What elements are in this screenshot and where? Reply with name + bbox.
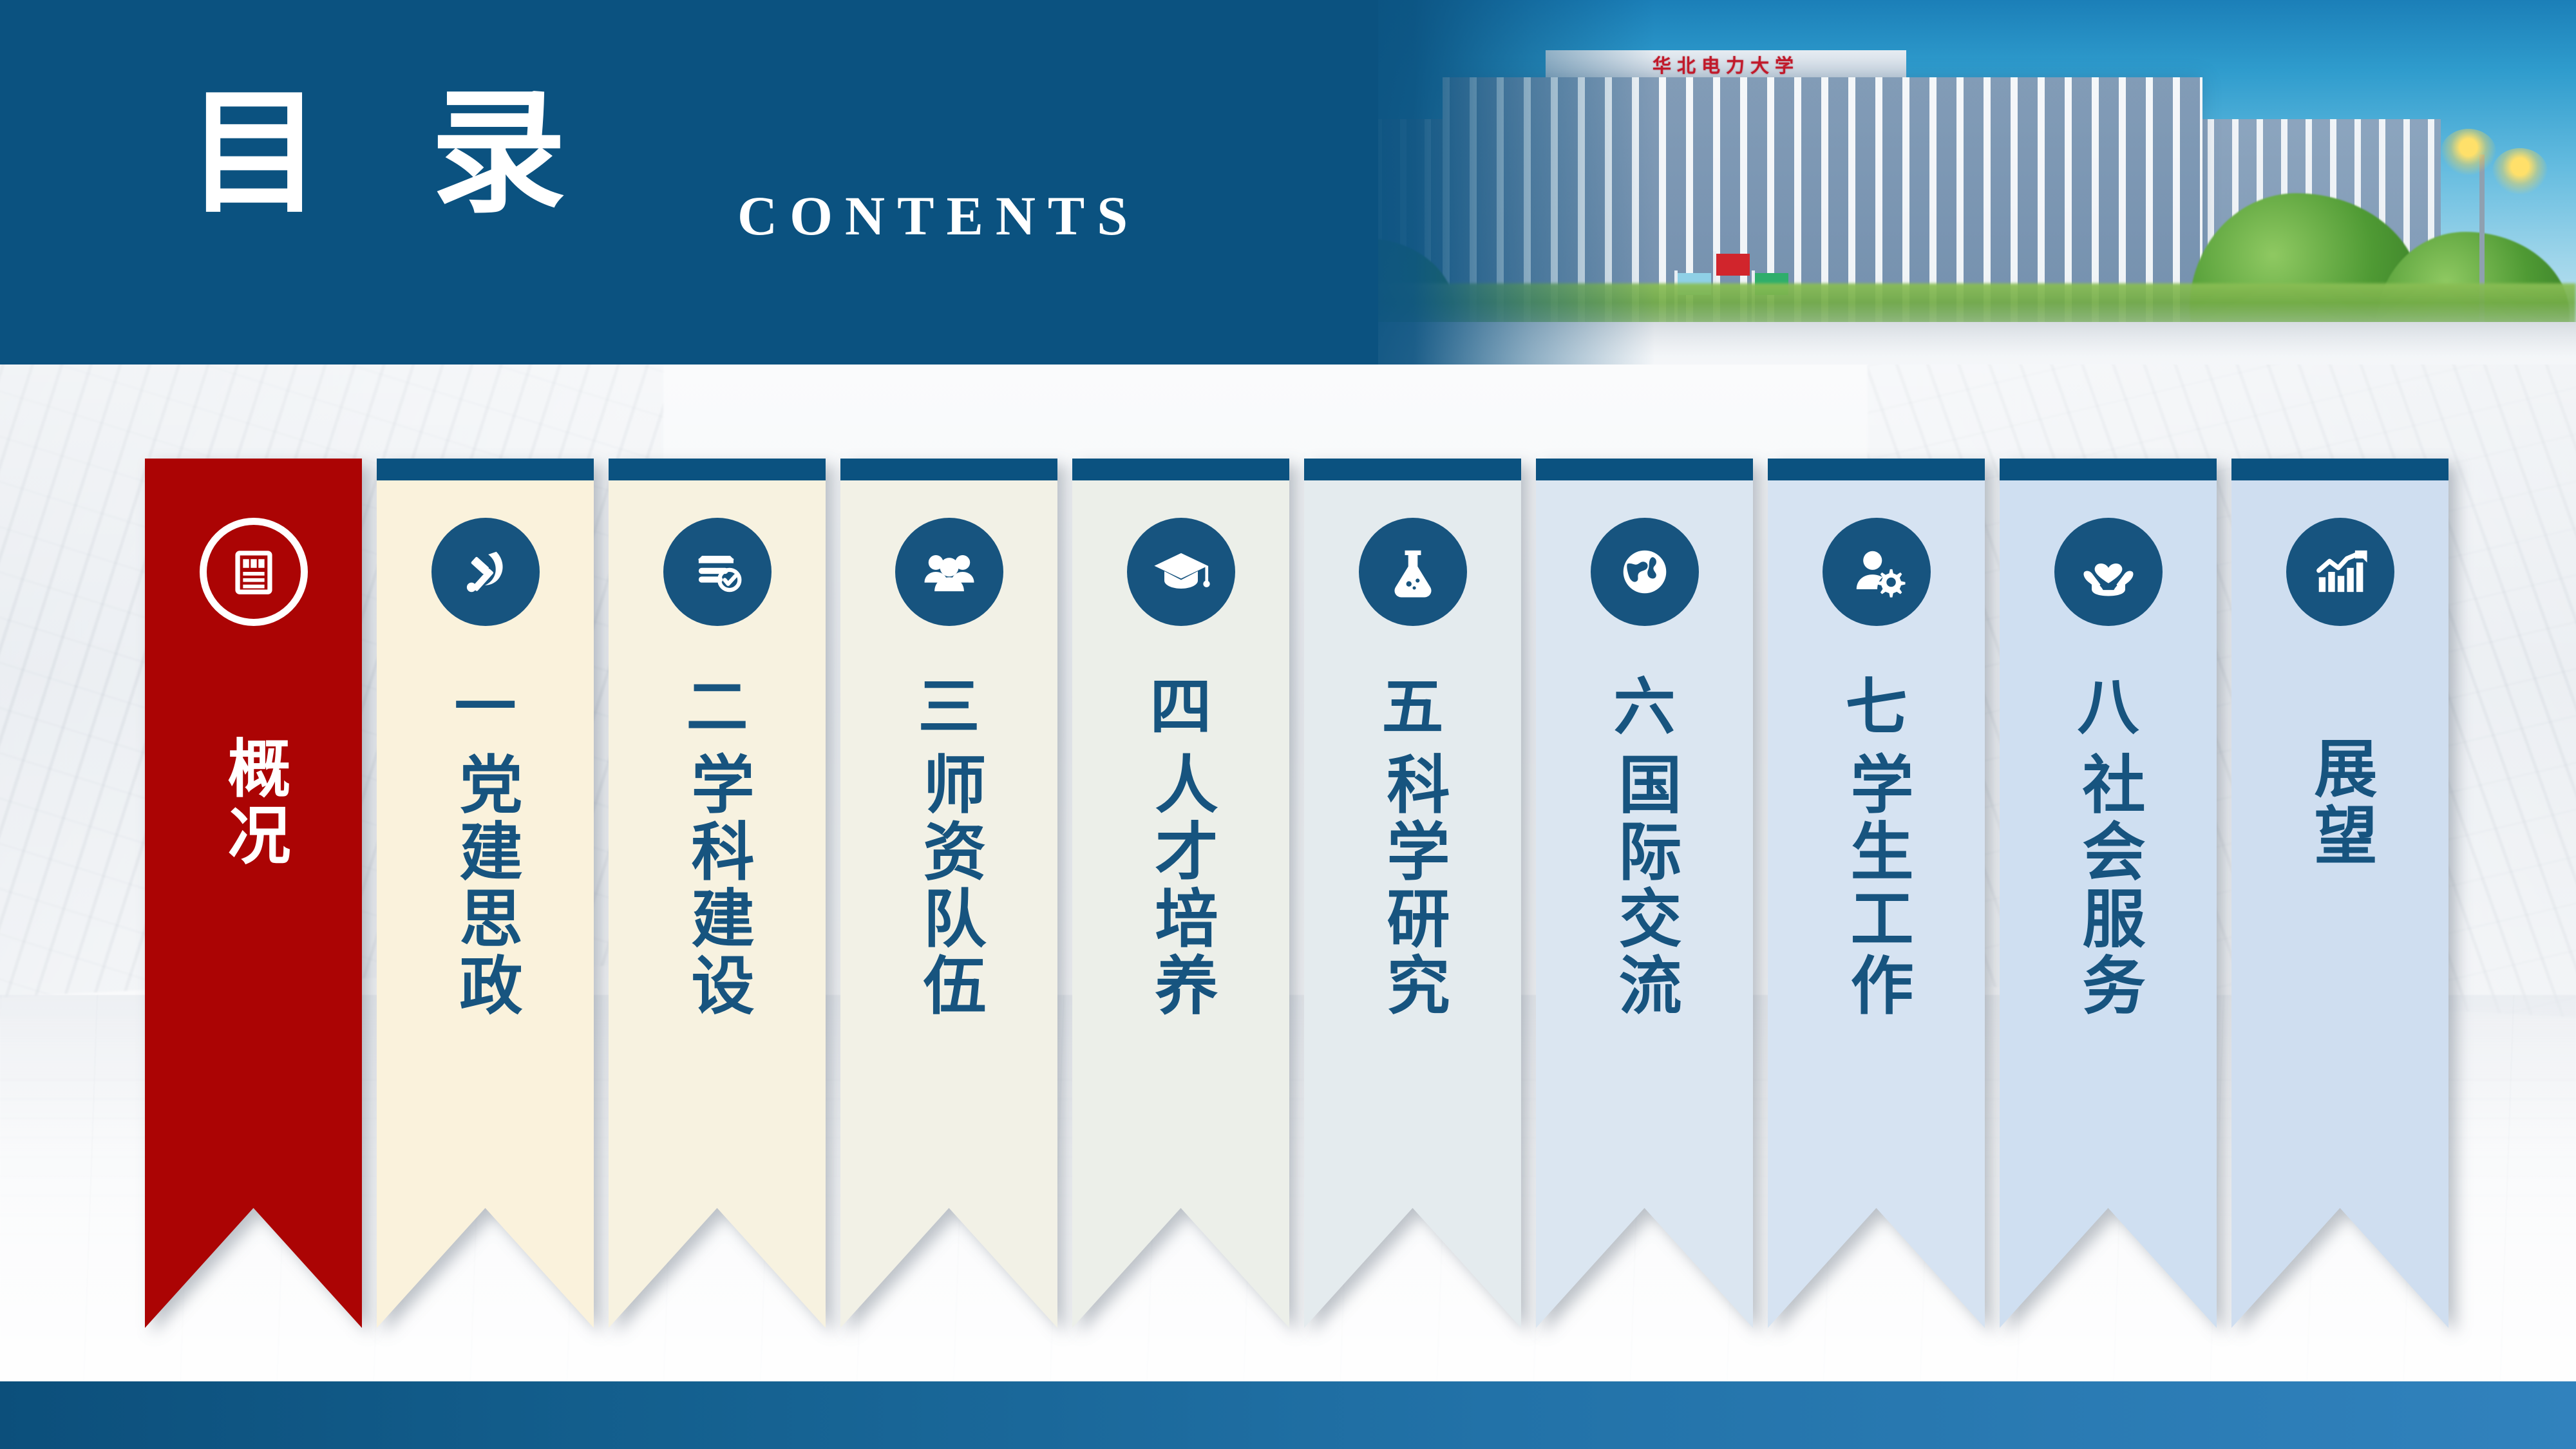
icon-circle bbox=[1591, 518, 1699, 626]
people-group-icon bbox=[916, 538, 983, 605]
icon-circle bbox=[895, 518, 1003, 626]
ribbon-icon-badge bbox=[1359, 518, 1467, 626]
ribbon-icon-badge bbox=[1127, 518, 1235, 626]
ribbon-item-5[interactable]: 四人才培养 bbox=[1072, 459, 1289, 1328]
ribbon-item-1[interactable]: 概况 bbox=[145, 459, 362, 1328]
flask-icon bbox=[1379, 538, 1446, 605]
ribbon-icon-badge bbox=[2054, 518, 2163, 626]
icon-circle bbox=[2054, 518, 2163, 626]
icon-circle bbox=[1359, 518, 1467, 626]
ribbon-icon-badge bbox=[1591, 518, 1699, 626]
newspaper-icon bbox=[220, 538, 287, 605]
ribbon-index-numeral: 七 bbox=[1768, 671, 1985, 743]
ribbon-icon-badge bbox=[895, 518, 1003, 626]
icon-circle bbox=[1823, 518, 1931, 626]
ribbon-top-cap bbox=[1072, 459, 1289, 480]
hammer-sickle-icon bbox=[452, 538, 519, 605]
ribbon-top-cap bbox=[2231, 459, 2448, 480]
ribbon-index-numeral: 二 bbox=[609, 671, 826, 743]
ribbon-label-holder: 学科建设 bbox=[609, 752, 826, 1019]
ribbon-label: 概况 bbox=[218, 735, 290, 869]
ribbon-icon-badge bbox=[1823, 518, 1931, 626]
ribbon-index-numeral: 六 bbox=[1536, 671, 1753, 743]
ribbon-label: 国际交流 bbox=[1609, 752, 1681, 1019]
ribbon-index-numeral: 四 bbox=[1072, 671, 1289, 743]
ribbon-item-9[interactable]: 八社会服务 bbox=[2000, 459, 2217, 1328]
ribbon-index-numeral: 五 bbox=[1304, 671, 1521, 743]
ribbon-item-6[interactable]: 五科学研究 bbox=[1304, 459, 1521, 1328]
icon-circle bbox=[2286, 518, 2394, 626]
ribbon-icon-badge bbox=[431, 518, 540, 626]
ribbon-label: 学科建设 bbox=[681, 752, 753, 1019]
ribbon-top-cap bbox=[1536, 459, 1753, 480]
ribbon-label: 人才培养 bbox=[1145, 752, 1217, 1019]
icon-circle bbox=[431, 518, 540, 626]
ribbon-top-cap bbox=[377, 459, 594, 480]
ribbon-index-numeral: 三 bbox=[840, 671, 1057, 743]
ribbon-label: 党建思政 bbox=[450, 752, 522, 1019]
ribbon-item-8[interactable]: 七学生工作 bbox=[1768, 459, 1985, 1328]
ribbon-label-holder: 党建思政 bbox=[377, 752, 594, 1019]
ribbon-label: 展望 bbox=[2304, 735, 2376, 869]
ribbon-item-10[interactable]: 展望 bbox=[2231, 459, 2448, 1328]
ribbon-item-3[interactable]: 二学科建设 bbox=[609, 459, 826, 1328]
graduation-cap-icon bbox=[1148, 538, 1215, 605]
ribbon-top-cap bbox=[1768, 459, 1985, 480]
icon-circle bbox=[1127, 518, 1235, 626]
ribbon-label: 学生工作 bbox=[1841, 752, 1913, 1019]
ribbon-label: 师资队伍 bbox=[913, 752, 985, 1019]
ribbon-icon-badge bbox=[200, 518, 308, 626]
ribbon-label-holder: 师资队伍 bbox=[840, 752, 1057, 1019]
hands-heart-icon bbox=[2075, 538, 2142, 605]
globe-icon bbox=[1611, 538, 1678, 605]
ribbon-top-cap bbox=[1304, 459, 1521, 480]
ribbon-icon-badge bbox=[663, 518, 772, 626]
ribbon-label-holder: 概况 bbox=[145, 735, 362, 869]
ribbon-label-holder: 人才培养 bbox=[1072, 752, 1289, 1019]
ribbon-label-holder: 展望 bbox=[2231, 735, 2448, 869]
ribbon-label-holder: 学生工作 bbox=[1768, 752, 1985, 1019]
ribbon-item-2[interactable]: 一党建思政 bbox=[377, 459, 594, 1328]
slide-canvas: 华北电力大学 目 录 CONTENTS bbox=[0, 0, 2576, 1449]
icon-circle bbox=[200, 518, 308, 626]
books-check-icon bbox=[684, 538, 751, 605]
ribbon-top-cap bbox=[840, 459, 1057, 480]
ribbon-index-numeral: 八 bbox=[2000, 671, 2217, 743]
ribbon-item-4[interactable]: 三师资队伍 bbox=[840, 459, 1057, 1328]
ribbon-label: 科学研究 bbox=[1377, 752, 1449, 1019]
ribbon-index-numeral: 一 bbox=[377, 671, 594, 743]
ribbon-top-cap bbox=[609, 459, 826, 480]
ribbon-label-holder: 国际交流 bbox=[1536, 752, 1753, 1019]
ribbon-icon-badge bbox=[2286, 518, 2394, 626]
growth-chart-icon bbox=[2307, 538, 2374, 605]
ribbon-label-holder: 科学研究 bbox=[1304, 752, 1521, 1019]
icon-circle bbox=[663, 518, 772, 626]
contents-ribbon-list: 概况一党建思政二学科建设三师资队伍四人才培养五科学研究六国际交流七学生工作八社会… bbox=[0, 0, 2576, 1449]
bottom-accent-bar bbox=[0, 1381, 2576, 1449]
ribbon-top-cap bbox=[2000, 459, 2217, 480]
ribbon-label-holder: 社会服务 bbox=[2000, 752, 2217, 1019]
ribbon-item-7[interactable]: 六国际交流 bbox=[1536, 459, 1753, 1328]
user-gear-icon bbox=[1843, 538, 1910, 605]
ribbon-label: 社会服务 bbox=[2072, 752, 2145, 1019]
